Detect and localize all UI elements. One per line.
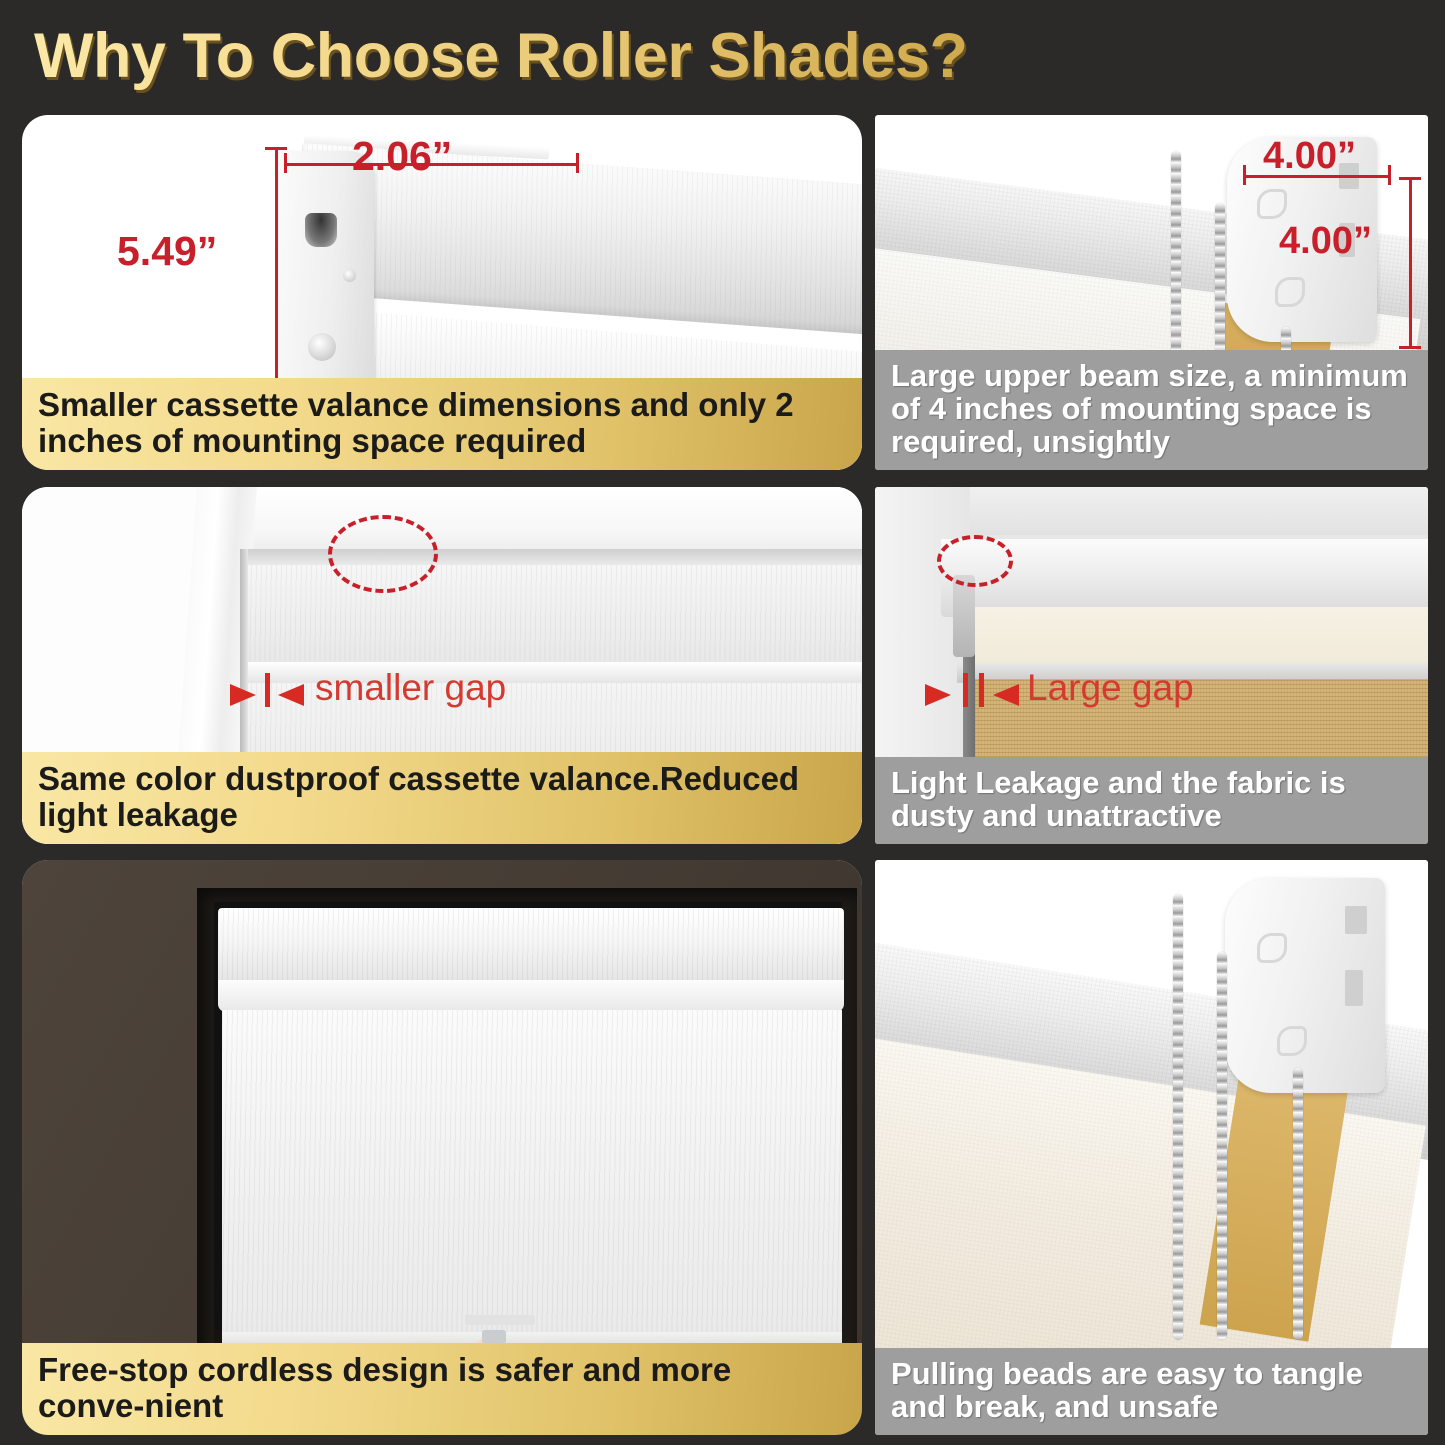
bracket-tab-top (1345, 906, 1367, 934)
shade-upper-section (246, 565, 862, 665)
caption-light-leakage: Light Leakage and the fabric is dusty an… (875, 757, 1428, 844)
beam-dimension-line-height (1409, 177, 1412, 349)
caption-pulling-beads: Pulling beads are easy to tangle and bre… (875, 1348, 1428, 1435)
dimension-tick-width-right (576, 153, 579, 173)
panel-cassette-dimensions: 2.06” 5.49” Smaller cassette valance dim… (22, 115, 862, 470)
panel-smaller-gap: smaller gap Same color dustproof cassett… (22, 487, 862, 844)
gap-arrow-right-icon (993, 684, 1019, 706)
brand-tag (465, 1315, 535, 1325)
gap-arrow-left-icon (925, 684, 951, 706)
bead-chain-back[interactable] (1293, 1068, 1303, 1340)
bead-chain-mid[interactable] (1217, 952, 1227, 1340)
dimension-label-height: 5.49” (117, 228, 217, 275)
bracket-emboss-bottom (1277, 1026, 1307, 1056)
bracket-tab-bottom (1345, 970, 1363, 1006)
pull-tab[interactable] (482, 1330, 506, 1344)
dimension-tick-width-left (284, 153, 287, 173)
page-title: Why To Choose Roller Shades? (34, 20, 967, 92)
bracket-screw-small (343, 269, 356, 282)
bracket-emboss-top (1257, 189, 1287, 219)
gap-measure-bar-right (979, 673, 984, 707)
beam-tick-width-right (1388, 165, 1391, 185)
panel-pulling-beads: Pulling beads are easy to tangle and bre… (875, 860, 1428, 1435)
panel-light-leakage: Large gap Light Leakage and the fabric i… (875, 487, 1428, 844)
gap-arrow-left-icon (230, 684, 256, 706)
highlight-circle-icon (328, 515, 438, 593)
gap-measure-bar (265, 673, 270, 707)
beam-tick-width-left (1243, 165, 1246, 185)
bracket-slot (305, 213, 337, 247)
caption-cordless-design: Free-stop cordless design is safer and m… (22, 1343, 862, 1435)
caption-smaller-gap: Same color dustproof cassette valance.Re… (22, 752, 862, 844)
gap-arrow-right-icon (278, 684, 304, 706)
cassette-valance (218, 908, 844, 986)
roller-shade-panel (222, 1010, 842, 1340)
gap-label-smaller: smaller gap (315, 667, 506, 709)
roller-end-bracket (1225, 878, 1385, 1093)
bracket-emboss-bottom (1275, 277, 1305, 307)
bracket-emboss-top (1257, 933, 1287, 963)
bracket-screw (308, 333, 336, 361)
beam-dimension-label-width: 4.00” (1263, 135, 1356, 178)
title-bar: Why To Choose Roller Shades? (0, 0, 1445, 108)
leakage-headrail (941, 539, 1428, 617)
gap-label-large: Large gap (1027, 667, 1194, 709)
beam-tick-height-top (1399, 177, 1421, 180)
dimension-label-width: 2.06” (352, 133, 452, 180)
dimension-tick-height-top (265, 147, 287, 150)
dimension-line-height (275, 147, 278, 415)
bead-chain-front[interactable] (1173, 894, 1183, 1340)
caption-cassette-dimensions: Smaller cassette valance dimensions and … (22, 378, 862, 470)
leakage-bracket-clip (953, 575, 975, 657)
beam-dimension-label-height: 4.00” (1279, 220, 1372, 263)
panel-large-upper-beam: 4.00” 4.00” Large upper beam size, a min… (875, 115, 1428, 470)
valance-end-bracket (279, 151, 374, 403)
caption-large-upper-beam: Large upper beam size, a minimum of 4 in… (875, 350, 1428, 470)
panel-cordless-design: Free-stop cordless design is safer and m… (22, 860, 862, 1435)
gap-measure-bar-left (963, 673, 968, 707)
cassette-valance-lip (218, 980, 844, 1012)
highlight-circle-icon (937, 535, 1013, 587)
